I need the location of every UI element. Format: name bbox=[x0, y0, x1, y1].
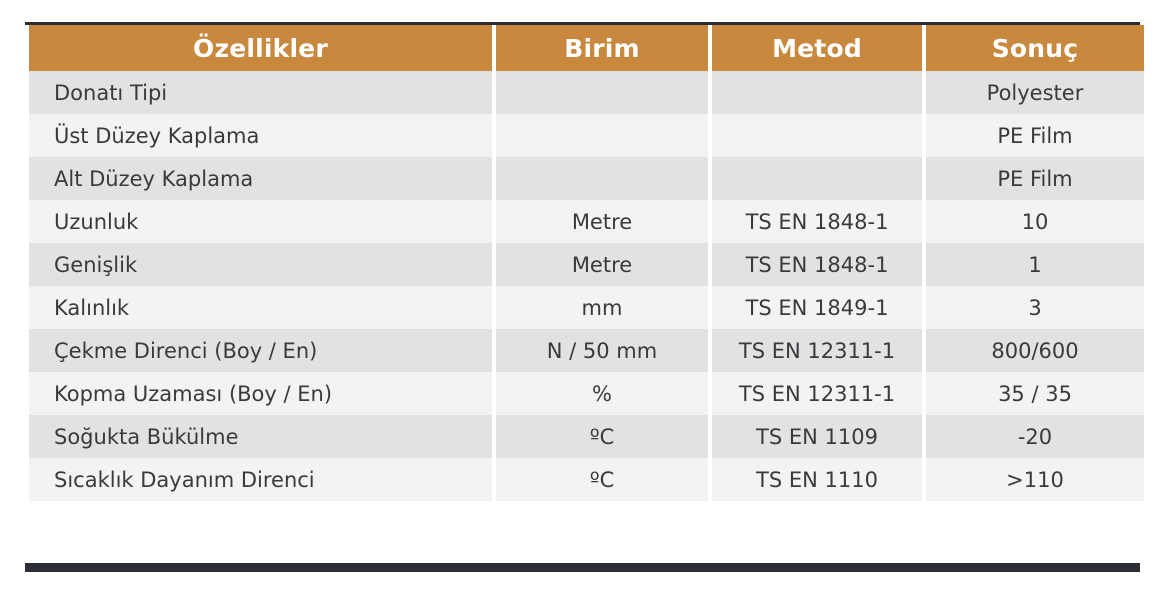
column-header-unit: Birim bbox=[496, 25, 708, 71]
cell-unit: mm bbox=[496, 286, 708, 329]
table-row: GenişlikMetreTS EN 1848-11 bbox=[29, 243, 1144, 286]
cell-feature: Sıcaklık Dayanım Direnci bbox=[29, 458, 492, 501]
table-row: Çekme Direnci (Boy / En)N / 50 mmTS EN 1… bbox=[29, 329, 1144, 372]
cell-unit: N / 50 mm bbox=[496, 329, 708, 372]
cell-result: 35 / 35 bbox=[926, 372, 1144, 415]
cell-method: TS EN 1109 bbox=[712, 415, 922, 458]
cell-unit: Metre bbox=[496, 200, 708, 243]
cell-result: 1 bbox=[926, 243, 1144, 286]
cell-feature: Kopma Uzaması (Boy / En) bbox=[29, 372, 492, 415]
cell-feature: Uzunluk bbox=[29, 200, 492, 243]
cell-feature: Alt Düzey Kaplama bbox=[29, 157, 492, 200]
cell-feature: Üst Düzey Kaplama bbox=[29, 114, 492, 157]
table-row: Sıcaklık Dayanım DirenciºCTS EN 1110>110 bbox=[29, 458, 1144, 501]
table-body: Donatı TipiPolyesterÜst Düzey KaplamaPE … bbox=[29, 71, 1144, 501]
cell-feature: Soğukta Bükülme bbox=[29, 415, 492, 458]
cell-method: TS EN 12311-1 bbox=[712, 372, 922, 415]
cell-feature: Çekme Direnci (Boy / En) bbox=[29, 329, 492, 372]
table-bottom-bar bbox=[25, 563, 1140, 572]
cell-feature: Kalınlık bbox=[29, 286, 492, 329]
cell-method: TS EN 1848-1 bbox=[712, 200, 922, 243]
column-header-features: Özellikler bbox=[29, 25, 492, 71]
cell-result: PE Film bbox=[926, 114, 1144, 157]
cell-unit: ºC bbox=[496, 415, 708, 458]
table-row: Donatı TipiPolyester bbox=[29, 71, 1144, 114]
cell-feature: Genişlik bbox=[29, 243, 492, 286]
cell-unit bbox=[496, 71, 708, 114]
cell-result: >110 bbox=[926, 458, 1144, 501]
table-header-row: Özellikler Birim Metod Sonuç bbox=[29, 25, 1144, 71]
cell-feature: Donatı Tipi bbox=[29, 71, 492, 114]
cell-result: Polyester bbox=[926, 71, 1144, 114]
cell-result: 10 bbox=[926, 200, 1144, 243]
table-row: Soğukta BükülmeºCTS EN 1109-20 bbox=[29, 415, 1144, 458]
cell-unit: Metre bbox=[496, 243, 708, 286]
specification-table: Özellikler Birim Metod Sonuç Donatı Tipi… bbox=[25, 25, 1148, 501]
cell-unit: ºC bbox=[496, 458, 708, 501]
cell-method: TS EN 1849-1 bbox=[712, 286, 922, 329]
cell-unit bbox=[496, 114, 708, 157]
cell-method: TS EN 1110 bbox=[712, 458, 922, 501]
column-header-result: Sonuç bbox=[926, 25, 1144, 71]
table-row: UzunlukMetreTS EN 1848-110 bbox=[29, 200, 1144, 243]
table-row: Üst Düzey KaplamaPE Film bbox=[29, 114, 1144, 157]
cell-result: 800/600 bbox=[926, 329, 1144, 372]
cell-method bbox=[712, 157, 922, 200]
cell-method: TS EN 12311-1 bbox=[712, 329, 922, 372]
specification-table-container: Özellikler Birim Metod Sonuç Donatı Tipi… bbox=[25, 22, 1140, 572]
cell-result: PE Film bbox=[926, 157, 1144, 200]
cell-method bbox=[712, 114, 922, 157]
table-row: KalınlıkmmTS EN 1849-13 bbox=[29, 286, 1144, 329]
column-header-method: Metod bbox=[712, 25, 922, 71]
cell-unit bbox=[496, 157, 708, 200]
table-header: Özellikler Birim Metod Sonuç bbox=[29, 25, 1144, 71]
table-row: Kopma Uzaması (Boy / En)%TS EN 12311-135… bbox=[29, 372, 1144, 415]
cell-result: 3 bbox=[926, 286, 1144, 329]
cell-unit: % bbox=[496, 372, 708, 415]
table-row: Alt Düzey KaplamaPE Film bbox=[29, 157, 1144, 200]
cell-result: -20 bbox=[926, 415, 1144, 458]
cell-method: TS EN 1848-1 bbox=[712, 243, 922, 286]
cell-method bbox=[712, 71, 922, 114]
